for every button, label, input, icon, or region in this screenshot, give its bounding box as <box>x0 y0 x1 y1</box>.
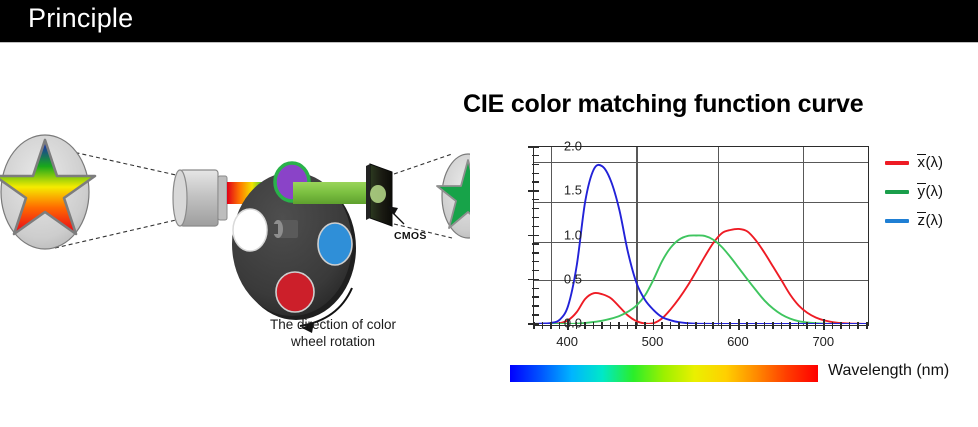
legend-item-y-bar[interactable]: y(λ) <box>885 177 978 206</box>
wavelength-axis-label: Wavelength (nm) <box>828 362 949 380</box>
y-tick-minor <box>532 235 539 236</box>
y-tick-minor <box>532 173 539 174</box>
x-tick-minor <box>576 322 578 329</box>
color-wheel-caption-line1: The direction of color <box>248 316 418 333</box>
y-tick-minor <box>532 314 539 315</box>
x-tick-minor <box>695 322 697 329</box>
legend-label: x(λ) <box>917 154 943 171</box>
cmos-sensor <box>366 164 392 226</box>
x-tick-minor <box>729 322 731 329</box>
y-tick-label: 2.0 <box>542 139 582 154</box>
x-tick-minor <box>815 322 817 329</box>
x-tick-minor <box>772 322 774 329</box>
wheel-filter-red <box>276 272 314 312</box>
legend-item-x-bar[interactable]: x(λ) <box>885 148 978 177</box>
x-tick-label: 700 <box>800 334 846 349</box>
legend-swatch <box>885 161 909 165</box>
spectrum-gradient-bar <box>510 365 818 382</box>
y-tick-major <box>528 146 539 148</box>
x-tick-minor <box>781 322 783 329</box>
header-bar <box>0 0 978 42</box>
x-tick-minor <box>849 322 851 329</box>
x-tick-label: 500 <box>630 334 676 349</box>
y-tick-minor <box>532 155 539 156</box>
y-tick-major <box>528 190 539 192</box>
x-tick-minor <box>559 322 561 329</box>
x-tick-minor <box>857 322 859 329</box>
x-tick-minor <box>755 322 757 329</box>
chart-legend: x(λ)y(λ)z(λ) <box>885 148 978 235</box>
y-tick-major <box>528 279 539 281</box>
x-tick-major <box>653 319 655 330</box>
x-tick-minor <box>832 322 834 329</box>
chart-title: CIE color matching function curve <box>463 90 963 119</box>
legend-label: z(λ) <box>917 212 943 229</box>
x-tick-minor <box>764 322 766 329</box>
x-tick-minor <box>746 322 748 329</box>
curve-y-bar <box>534 235 867 324</box>
y-tick-minor <box>532 270 539 271</box>
x-tick-minor <box>584 322 586 329</box>
x-tick-minor <box>678 322 680 329</box>
spectrum-legend: Wavelength (nm) <box>510 365 978 387</box>
y-tick-label: 0.5 <box>542 271 582 286</box>
x-tick-minor <box>704 322 706 329</box>
x-tick-major <box>567 319 569 330</box>
x-tick-minor <box>866 322 868 329</box>
plot-frame <box>533 146 869 326</box>
x-tick-label: 400 <box>544 334 590 349</box>
legend-label: y(λ) <box>917 183 943 200</box>
y-tick-label: 1.5 <box>542 183 582 198</box>
x-tick-minor <box>644 322 646 329</box>
y-tick-minor <box>532 217 539 218</box>
x-tick-minor <box>661 322 663 329</box>
x-tick-minor <box>806 322 808 329</box>
header-divider <box>0 42 978 43</box>
x-tick-minor <box>798 322 800 329</box>
x-tick-minor <box>593 322 595 329</box>
x-tick-major <box>738 319 740 330</box>
x-tick-minor <box>542 322 544 329</box>
y-tick-minor <box>532 164 539 165</box>
y-tick-minor <box>532 252 539 253</box>
wheel-filter-white <box>233 209 267 251</box>
x-tick-major <box>823 319 825 330</box>
x-tick-minor <box>635 322 637 329</box>
legend-item-z-bar[interactable]: z(λ) <box>885 206 978 235</box>
page-title: Principle <box>28 3 133 34</box>
x-tick-minor <box>610 322 612 329</box>
color-wheel-caption: The direction of color wheel rotation <box>248 316 418 350</box>
output-image-screen <box>437 154 470 238</box>
x-tick-minor <box>670 322 672 329</box>
cie-chart: 0.00.51.01.52.0 400500600700 x(λ)y(λ)z(λ… <box>480 138 978 378</box>
x-tick-minor <box>687 322 689 329</box>
y-tick-label: 1.0 <box>542 227 582 242</box>
x-tick-minor <box>627 322 629 329</box>
legend-swatch <box>885 219 909 223</box>
y-tick-minor <box>532 296 539 297</box>
legend-swatch <box>885 190 909 194</box>
y-tick-minor <box>532 243 539 244</box>
x-tick-minor <box>618 322 620 329</box>
curve-layer <box>534 147 867 324</box>
y-tick-minor <box>532 226 539 227</box>
y-tick-minor <box>532 305 539 306</box>
x-tick-label: 600 <box>715 334 761 349</box>
x-tick-minor <box>601 322 603 329</box>
curve-x-bar <box>534 229 867 324</box>
lens-barrel <box>173 170 227 226</box>
y-tick-minor <box>532 208 539 209</box>
color-wheel-caption-line2: wheel rotation <box>248 333 418 350</box>
x-tick-minor <box>712 322 714 329</box>
wheel-filter-blue <box>318 223 352 265</box>
x-tick-minor <box>533 322 535 329</box>
source-image-screen <box>0 135 95 249</box>
x-tick-minor <box>789 322 791 329</box>
y-tick-minor <box>532 199 539 200</box>
y-tick-minor <box>532 288 539 289</box>
x-tick-minor <box>550 322 552 329</box>
x-tick-minor <box>721 322 723 329</box>
y-tick-minor <box>532 181 539 182</box>
y-tick-minor <box>532 261 539 262</box>
cmos-label: CMOS <box>394 230 427 242</box>
x-tick-minor <box>840 322 842 329</box>
